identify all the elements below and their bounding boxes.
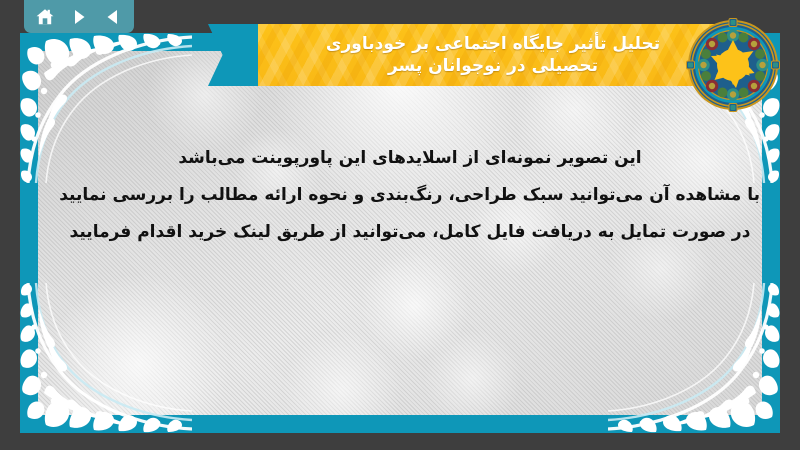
slide-title-banner: تحلیل تأثیر جایگاه اجتماعی بر خودباوری ت… <box>208 24 728 86</box>
triangle-left-icon <box>104 8 122 26</box>
persian-medallion-ornament-icon <box>686 18 780 112</box>
slide-body-text: این تصویر نمونه‌ای از اسلایدهای این پاور… <box>60 140 760 251</box>
previous-slide-button[interactable] <box>100 4 126 30</box>
triangle-right-icon <box>70 8 88 26</box>
body-line-3: در صورت تمایل به دریافت فایل کامل، می‌تو… <box>60 214 760 251</box>
page-title-line-1: تحلیل تأثیر جایگاه اجتماعی بر خودباوری <box>326 33 660 55</box>
page-title-line-2: تحصیلی در نوجوانان پسر <box>388 55 598 77</box>
next-slide-button[interactable] <box>66 4 92 30</box>
body-line-1: این تصویر نمونه‌ای از اسلایدهای این پاور… <box>60 140 760 177</box>
slide-navigation-bar <box>24 0 134 33</box>
banner-body: تحلیل تأثیر جایگاه اجتماعی بر خودباوری ت… <box>258 24 728 86</box>
banner-tail-shape <box>208 24 260 86</box>
slide-viewer: تحلیل تأثیر جایگاه اجتماعی بر خودباوری ت… <box>0 0 800 450</box>
body-line-2: با مشاهده آن می‌توانید سبک طراحی، رنگ‌بن… <box>60 177 760 214</box>
home-icon <box>35 7 55 27</box>
home-button[interactable] <box>32 4 58 30</box>
